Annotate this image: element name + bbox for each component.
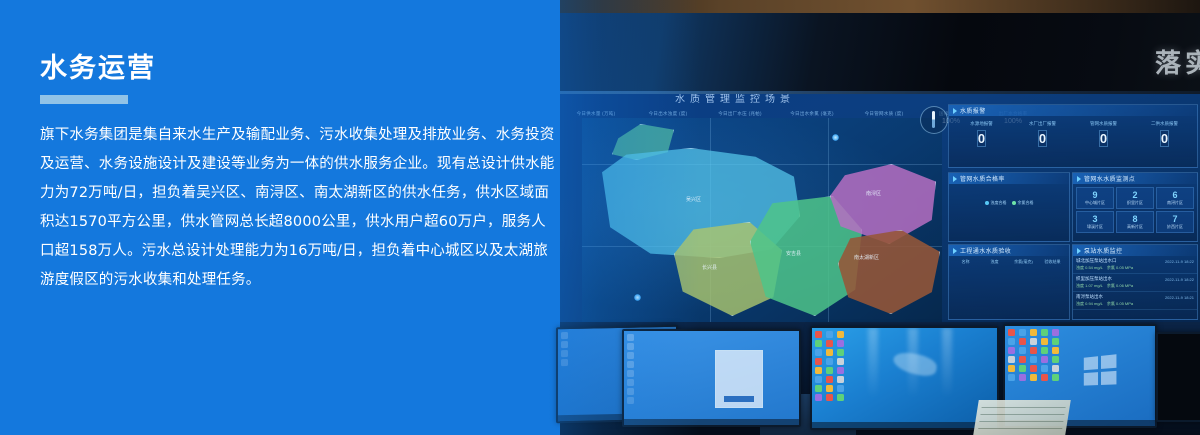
kpi-label: 今日出水余氯 (毫克) xyxy=(776,110,848,117)
log-value: 浊度 1.07 mg/L xyxy=(1076,283,1103,289)
map-region-label: 南太湖新区 xyxy=(854,254,879,261)
windows-logo-icon xyxy=(1084,354,1118,386)
panel-title: 工程通水水质验收 xyxy=(960,246,1011,255)
panel-title: 泵站水质监控 xyxy=(1084,246,1122,255)
panel-water-quality-alarm: 水质报警 水源地报警 0 水厂出厂报警 0 管网水质报警 0 xyxy=(948,104,1198,168)
alarm-card[interactable]: 二供水质报警 0 xyxy=(1136,120,1193,151)
panel-header: 工程通水水质验收 xyxy=(949,245,1069,256)
alarm-value: 0 xyxy=(977,130,986,147)
alarm-value: 0 xyxy=(1160,130,1169,147)
keyboard xyxy=(973,400,1071,435)
kpi-item: 今日管网水质 (度) xyxy=(848,110,920,117)
panel-header: 管网水水质监测点 xyxy=(1073,173,1197,184)
alarm-label: 水源地报警 xyxy=(953,120,1010,127)
point-label: 中心城片区 xyxy=(1077,200,1113,206)
legend-item: 浊度合格 xyxy=(985,200,1007,206)
alarm-value: 0 xyxy=(1038,130,1047,147)
legend-label: 浊度合格 xyxy=(991,200,1007,206)
column-header: 浊度 xyxy=(981,259,1008,265)
monitor-3 xyxy=(810,326,999,430)
point-label: 织里片区 xyxy=(1117,200,1153,206)
alarm-label: 水厂出厂报警 xyxy=(1014,120,1071,127)
legend-label: 余氯合格 xyxy=(1018,200,1034,206)
alarm-card[interactable]: 管网水质报警 0 xyxy=(1075,120,1132,151)
log-timestamp: 2022-11-9 18:22 xyxy=(1165,277,1194,282)
point-card[interactable]: 2 织里片区 xyxy=(1116,187,1154,209)
panel-pump-station-logs: 泵站水质监控 城北加压泵站出水口 2022-11-9 18:22 浊度 0.54… xyxy=(1072,244,1198,320)
point-label: 南浔片区 xyxy=(1157,200,1193,206)
point-label: 高新片区 xyxy=(1117,224,1153,230)
log-value: 余氯 0.05 MPa xyxy=(1107,301,1133,307)
description-paragraph: 旗下水务集团是集自来水生产及输配业务、污水收集处理及排放业务、水务投资及运营、水… xyxy=(40,121,560,295)
monitor-5 xyxy=(1156,332,1200,422)
point-label: 埭溪片区 xyxy=(1077,224,1113,230)
section-description: 旗下水务集团是集自来水生产及输配业务、污水收集处理及排放业务、水务投资及运营、水… xyxy=(40,121,560,295)
alarm-card[interactable]: 水厂出厂报警 0 xyxy=(1014,120,1071,151)
slogan-left: 落实安全责任 xyxy=(1155,43,1200,80)
log-timestamp: 2022-11-9 18:21 xyxy=(1165,295,1194,300)
chart-legend: 浊度合格 余氯合格 xyxy=(949,200,1069,206)
point-card[interactable]: 9 中心城片区 xyxy=(1076,187,1114,209)
log-value: 浊度 0.94 mg/L xyxy=(1076,301,1103,307)
triangle-icon xyxy=(1077,176,1081,182)
log-value: 余氯 0.06 MPa xyxy=(1107,283,1133,289)
triangle-icon xyxy=(953,176,957,182)
triangle-icon xyxy=(1077,248,1081,254)
log-station-name: 城北加压泵站出水口 xyxy=(1076,258,1117,264)
point-count: 7 xyxy=(1157,214,1193,224)
page-title: 水务运营 xyxy=(40,52,560,86)
point-count: 9 xyxy=(1077,190,1113,200)
compass-icon xyxy=(920,106,948,134)
water-operations-banner: 落实安全责任 保障供水安全 水质管理监控场景 今日供水量 (万吨) 今日出水浊度… xyxy=(0,0,1200,435)
log-station-name: 织里加压泵站出水 xyxy=(1076,276,1112,282)
alarm-value: 0 xyxy=(1099,130,1108,147)
diver-wallpaper xyxy=(892,350,939,379)
panel-header: 管网水质合格率 xyxy=(949,173,1069,184)
taskbar xyxy=(812,422,997,428)
log-value: 浊度 0.54 mg/L xyxy=(1076,265,1103,271)
log-row[interactable]: 南浔泵站出水 2022-11-9 18:21 浊度 0.94 mg/L 余氯 0… xyxy=(1073,292,1197,310)
point-count: 3 xyxy=(1077,214,1113,224)
kpi-item: 今日出水余氯 (毫克) xyxy=(776,110,848,117)
dialog-button[interactable] xyxy=(724,396,754,402)
log-timestamp: 2022-11-9 18:22 xyxy=(1165,259,1194,264)
title-underline-bar xyxy=(40,95,128,104)
panel-monitoring-points: 管网水水质监测点 9 中心城片区 2 织里片区 6 南浔片区 xyxy=(1072,172,1198,242)
point-card[interactable]: 6 南浔片区 xyxy=(1156,187,1194,209)
alarm-card-grid: 水源地报警 0 水厂出厂报警 0 管网水质报警 0 二供水质报警 0 xyxy=(949,116,1197,155)
legend-item: 余氯合格 xyxy=(1012,200,1034,206)
alarm-label: 管网水质报警 xyxy=(1075,120,1132,127)
triangle-icon xyxy=(953,108,957,114)
panel-title: 水质报警 xyxy=(960,106,986,115)
desktop-icon-grid xyxy=(815,331,846,401)
alarm-label: 二供水质报警 xyxy=(1136,120,1193,127)
panel-commissioning-acceptance: 工程通水水质验收 名称 浊度 余氯(毫克) 验收结果 xyxy=(948,244,1070,320)
map-region-label: 长兴县 xyxy=(702,264,717,271)
panel-network-quality-rate: 管网水质合格率 浊度合格 余氯合格 xyxy=(948,172,1070,242)
kpi-label: 今日出厂水压 (兆帕) xyxy=(704,110,776,117)
desktop-icon-grid xyxy=(1008,329,1061,381)
point-count: 2 xyxy=(1117,190,1153,200)
point-label: 妙西片区 xyxy=(1157,224,1193,230)
log-value: 余氯 0.05 MPa xyxy=(1107,265,1133,271)
kpi-label: 今日管网水质 (度) xyxy=(848,110,920,117)
panel-title: 管网水水质监测点 xyxy=(1084,174,1135,183)
table-header-row: 名称 浊度 余氯(毫克) 验收结果 xyxy=(949,256,1069,268)
log-row[interactable]: 织里加压泵站出水 2022-11-9 18:22 浊度 1.07 mg/L 余氯… xyxy=(1073,274,1197,292)
dialog-window[interactable] xyxy=(715,350,763,408)
column-header: 验收结果 xyxy=(1039,259,1066,265)
log-station-name: 南浔泵站出水 xyxy=(1076,294,1103,300)
panel-header: 泵站水质监控 xyxy=(1073,245,1197,256)
map-pin-icon[interactable] xyxy=(832,134,839,141)
alarm-card[interactable]: 水源地报警 0 xyxy=(953,120,1010,151)
map-region-label: 安吉县 xyxy=(786,250,801,257)
text-content: 水务运营 旗下水务集团是集自来水生产及输配业务、污水收集处理及排放业务、水务投资… xyxy=(40,52,560,295)
kpi-item: 今日出厂水压 (兆帕) xyxy=(704,110,776,117)
point-count: 8 xyxy=(1117,214,1153,224)
point-count: 6 xyxy=(1157,190,1193,200)
panel-title: 管网水质合格率 xyxy=(960,174,1005,183)
point-card[interactable]: 7 妙西片区 xyxy=(1156,211,1194,233)
points-grid: 9 中心城片区 2 织里片区 6 南浔片区 3 埭溪片区 xyxy=(1073,184,1197,236)
panel-header: 水质报警 xyxy=(949,105,1197,116)
triangle-icon xyxy=(953,248,957,254)
log-row[interactable]: 城北加压泵站出水口 2022-11-9 18:22 浊度 0.54 mg/L 余… xyxy=(1073,256,1197,274)
point-card[interactable]: 8 高新片区 xyxy=(1116,211,1154,233)
map-region-label: 南浔区 xyxy=(866,190,881,197)
column-header: 余氯(毫克) xyxy=(1010,259,1037,265)
column-header: 名称 xyxy=(952,259,979,265)
point-card[interactable]: 3 埭溪片区 xyxy=(1076,211,1114,233)
